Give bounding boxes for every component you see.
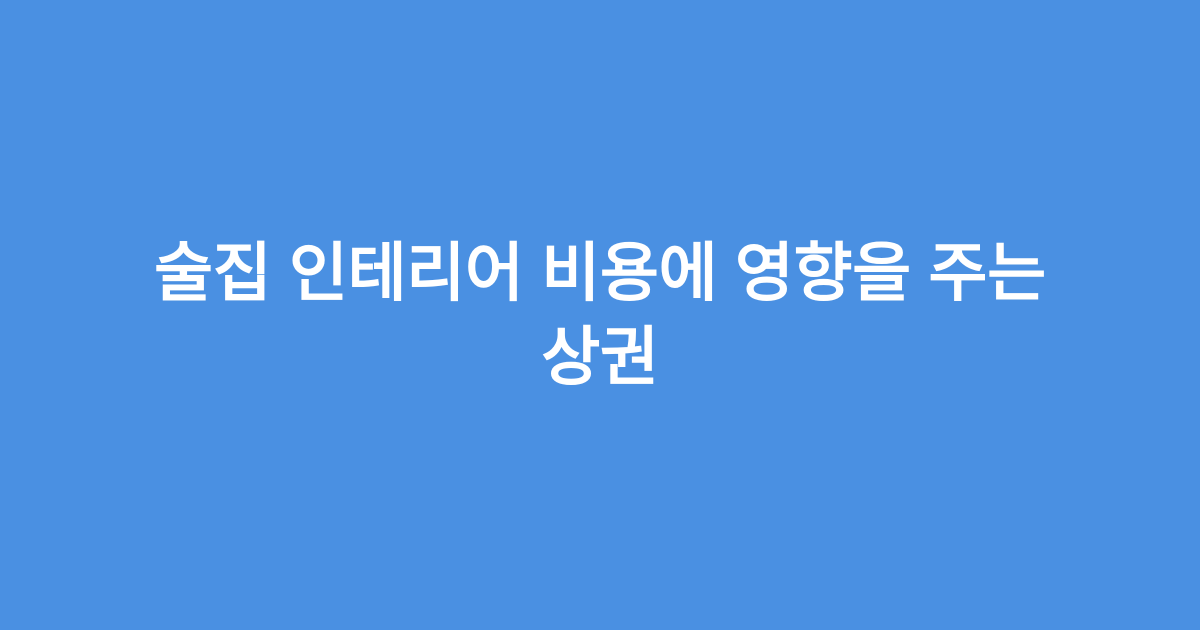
title-block: 술집 인테리어 비용에 영향을 주는 상권 [124, 231, 1076, 400]
page-title: 술집 인테리어 비용에 영향을 주는 상권 [124, 231, 1076, 400]
thumbnail-card: 술집 인테리어 비용에 영향을 주는 상권 [0, 0, 1200, 630]
